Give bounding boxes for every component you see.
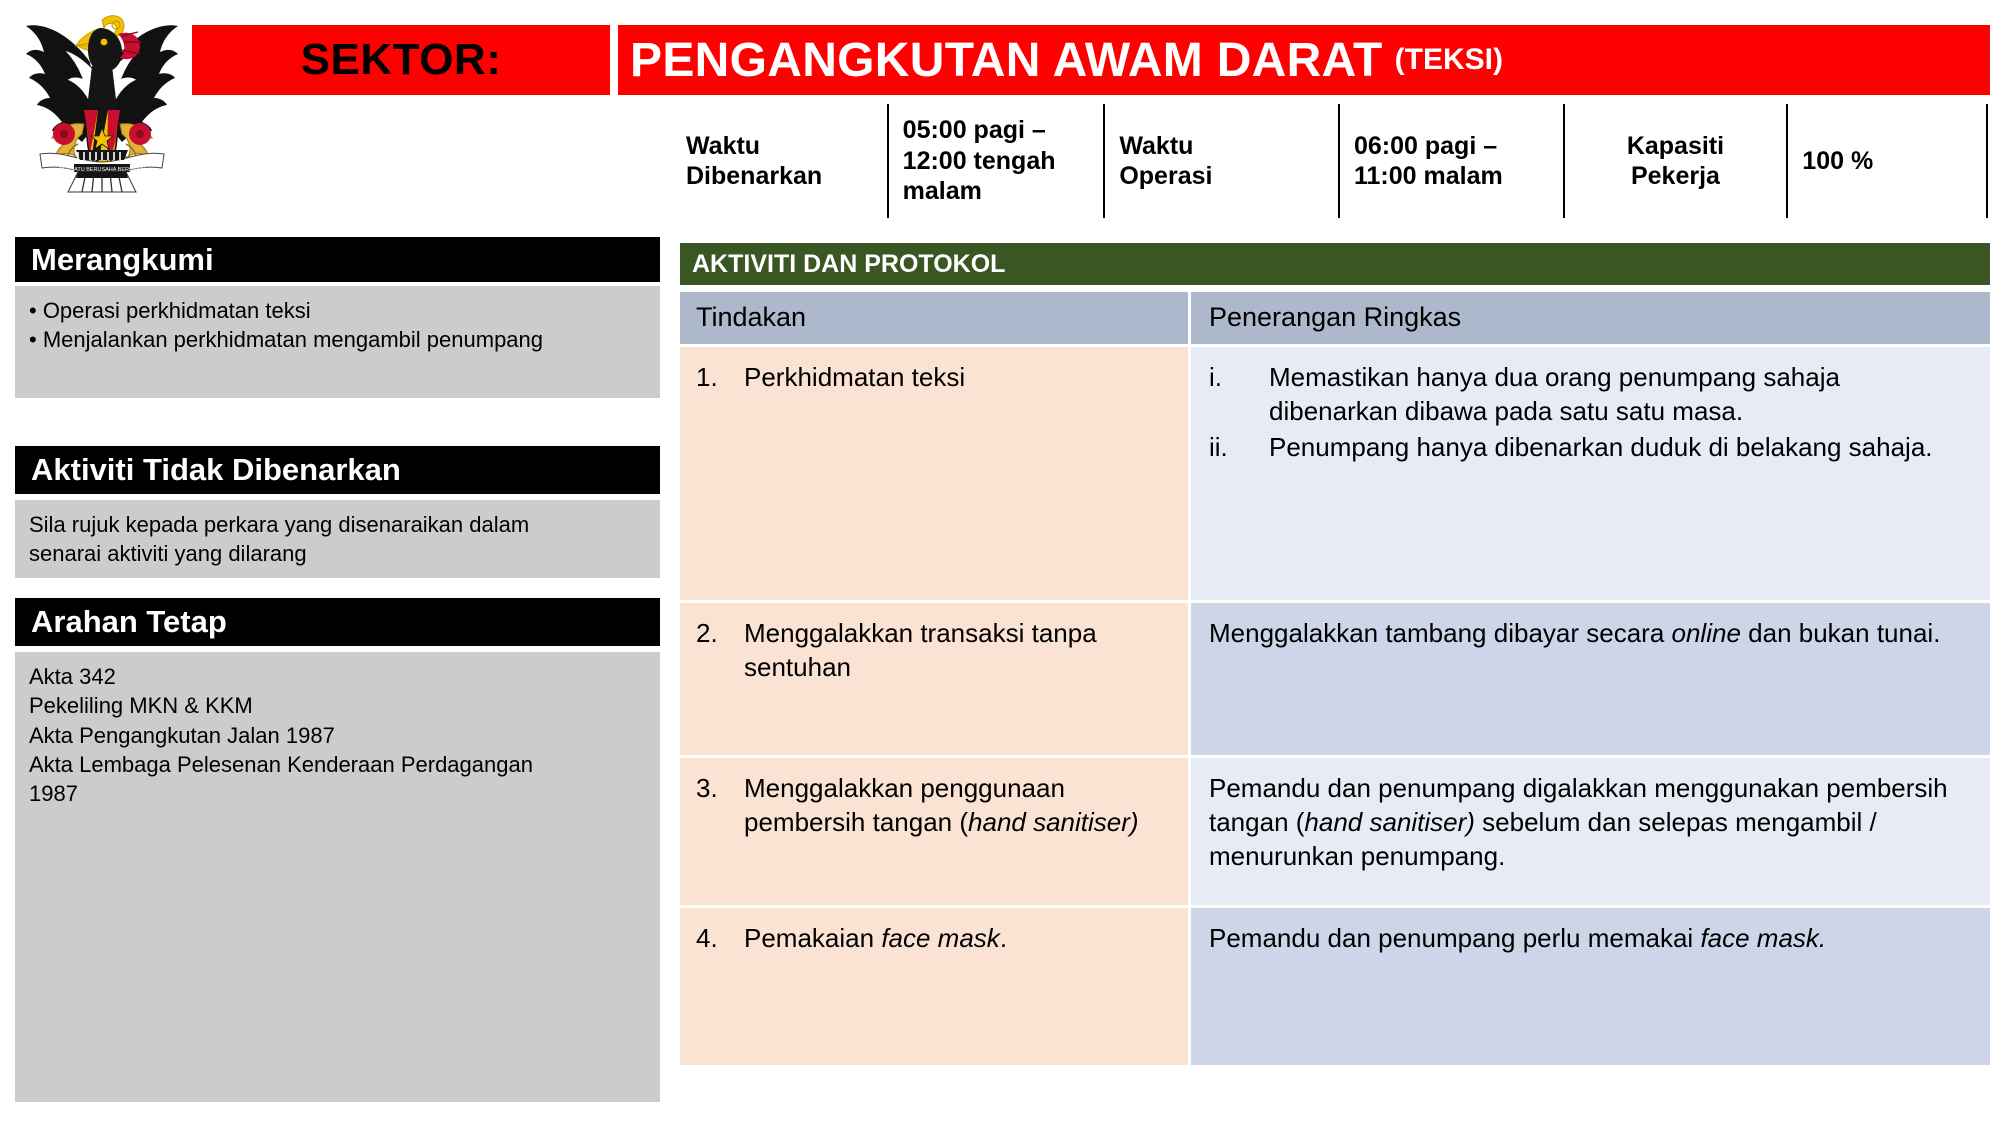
info-cell-kapasiti-pekerja-value: 100 % bbox=[1786, 104, 1986, 218]
table-row: 4. Pemakaian face mask. Pemandu dan penu… bbox=[680, 908, 1990, 1065]
coat-of-arms-svg: BERSATU BERUSAHA BERBAKTI bbox=[12, 4, 192, 194]
row-1-action-text: Perkhidmatan teksi bbox=[744, 361, 1172, 395]
row-1-action-cell: 1. Perkhidmatan teksi bbox=[680, 347, 1188, 600]
row-2-desc-pre: Menggalakkan tambang dibayar secara bbox=[1209, 618, 1672, 648]
info-cell-waktu-operasi-value: 06:00 pagi – 11:00 malam bbox=[1338, 104, 1563, 218]
row-3-description-cell: Pemandu dan penumpang digalakkan menggun… bbox=[1191, 758, 1990, 905]
arahan-tetap-line-5: 1987 bbox=[29, 779, 646, 808]
row-1-detail-2-marker: ii. bbox=[1209, 431, 1269, 465]
sector-title: PENGANGKUTAN AWAM DARAT bbox=[630, 33, 1383, 88]
merangkumi-heading-text: Merangkumi bbox=[31, 242, 214, 278]
row-4-action-pre: Pemakaian bbox=[744, 923, 881, 953]
row-4-desc-pre: Pemandu dan penumpang perlu memakai bbox=[1209, 923, 1700, 953]
table-row: 2. Menggalakkan transaksi tanpa sentuhan… bbox=[680, 603, 1990, 755]
waktu-operasi-line1: Waktu bbox=[1119, 131, 1212, 162]
aktiviti-tidak-dibenarkan-line-2: senarai aktiviti yang dilarang bbox=[29, 539, 646, 568]
row-4-action-text: Pemakaian face mask. bbox=[744, 922, 1172, 956]
row-4-action-post: . bbox=[1000, 923, 1007, 953]
row-1-description-cell: i. Memastikan hanya dua orang penumpang … bbox=[1191, 347, 1990, 600]
info-cell-waktu-dibenarkan-label: Waktu Dibenarkan bbox=[672, 104, 887, 218]
waktu-dibenarkan-value-line1: 05:00 pagi – bbox=[903, 115, 1056, 146]
row-1-detail-1-text: Memastikan hanya dua orang penumpang sah… bbox=[1269, 361, 1972, 429]
table-header-row: Tindakan Penerangan Ringkas bbox=[680, 292, 1990, 344]
kapasiti-pekerja-value: 100 % bbox=[1802, 146, 1873, 177]
waktu-dibenarkan-value-line2: 12:00 tengah bbox=[903, 146, 1056, 177]
arahan-tetap-heading-text: Arahan Tetap bbox=[31, 604, 227, 640]
kapasiti-pekerja-line2: Pekerja bbox=[1627, 161, 1724, 192]
kapasiti-pekerja-line1: Kapasiti bbox=[1627, 131, 1724, 162]
arahan-tetap-line-3: Akta Pengangkutan Jalan 1987 bbox=[29, 721, 646, 750]
section-body-merangkumi: • Operasi perkhidmatan teksi • Menjalank… bbox=[15, 286, 660, 398]
row-3-desc-emphasis: hand sanitiser) bbox=[1304, 807, 1475, 837]
header-tindakan-text: Tindakan bbox=[696, 302, 806, 332]
section-body-arahan-tetap: Akta 342 Pekeliling MKN & KKM Akta Penga… bbox=[15, 652, 660, 1102]
waktu-dibenarkan-line2: Dibenarkan bbox=[686, 161, 822, 192]
sektor-label-banner: SEKTOR: bbox=[192, 25, 610, 95]
row-2-number: 2. bbox=[696, 617, 744, 685]
table-row: 3. Menggalakkan penggunaan pembersih tan… bbox=[680, 758, 1990, 905]
info-cell-waktu-operasi-label: Waktu Operasi bbox=[1103, 104, 1338, 218]
row-2-desc-post: dan bukan tunai. bbox=[1741, 618, 1941, 648]
row-4-number: 4. bbox=[696, 922, 744, 956]
waktu-dibenarkan-value-line3: malam bbox=[903, 176, 1056, 207]
table-row: 1. Perkhidmatan teksi i. Memastikan hany… bbox=[680, 347, 1990, 600]
info-cell-kapasiti-pekerja-label: Kapasiti Pekerja bbox=[1563, 104, 1787, 218]
section-heading-merangkumi: Merangkumi bbox=[15, 237, 660, 282]
arahan-tetap-line-1: Akta 342 bbox=[29, 662, 646, 691]
aktiviti-tidak-dibenarkan-heading-text: Aktiviti Tidak Dibenarkan bbox=[31, 452, 401, 488]
row-2-action-cell: 2. Menggalakkan transaksi tanpa sentuhan bbox=[680, 603, 1188, 755]
row-1-number: 1. bbox=[696, 361, 744, 395]
operating-info-bar: Waktu Dibenarkan 05:00 pagi – 12:00 teng… bbox=[672, 104, 1988, 218]
row-1-detail-1-marker: i. bbox=[1209, 361, 1269, 429]
row-2-description-cell: Menggalakkan tambang dibayar secara onli… bbox=[1191, 603, 1990, 755]
section-body-aktiviti-tidak-dibenarkan: Sila rujuk kepada perkara yang disenarai… bbox=[15, 500, 660, 578]
info-cell-waktu-dibenarkan-value: 05:00 pagi – 12:00 tengah malam bbox=[887, 104, 1104, 218]
row-3-action-cell: 3. Menggalakkan penggunaan pembersih tan… bbox=[680, 758, 1188, 905]
row-3-action-text: Menggalakkan penggunaan pembersih tangan… bbox=[744, 772, 1172, 840]
waktu-operasi-value-line1: 06:00 pagi – bbox=[1354, 131, 1503, 162]
waktu-operasi-value-line2: 11:00 malam bbox=[1354, 161, 1503, 192]
protocol-table: Tindakan Penerangan Ringkas 1. Perkhidma… bbox=[680, 292, 1990, 1065]
row-1-detail-2-text: Penumpang hanya dibenarkan duduk di bela… bbox=[1269, 431, 1972, 465]
section-heading-arahan-tetap: Arahan Tetap bbox=[15, 598, 660, 646]
arahan-tetap-line-4: Akta Lembaga Pelesenan Kenderaan Perdaga… bbox=[29, 750, 646, 779]
panel-title-text: AKTIVITI DAN PROTOKOL bbox=[692, 250, 1005, 279]
header-penerangan-text: Penerangan Ringkas bbox=[1209, 302, 1461, 332]
merangkumi-line-1: • Operasi perkhidmatan teksi bbox=[29, 296, 646, 325]
merangkumi-line-2: • Menjalankan perkhidmatan mengambil pen… bbox=[29, 325, 646, 354]
table-header-tindakan: Tindakan bbox=[680, 292, 1188, 344]
aktiviti-tidak-dibenarkan-line-1: Sila rujuk kepada perkara yang disenarai… bbox=[29, 510, 646, 539]
row-2-action-text: Menggalakkan transaksi tanpa sentuhan bbox=[744, 617, 1172, 685]
arahan-tetap-line-2: Pekeliling MKN & KKM bbox=[29, 691, 646, 720]
sektor-label: SEKTOR: bbox=[301, 35, 502, 85]
row-2-desc-emphasis: online bbox=[1672, 618, 1741, 648]
section-heading-aktiviti-tidak-dibenarkan: Aktiviti Tidak Dibenarkan bbox=[15, 446, 660, 494]
row-3-action-emphasis: hand sanitiser) bbox=[968, 807, 1139, 837]
sarawak-coat-of-arms: BERSATU BERUSAHA BERBAKTI bbox=[12, 4, 192, 194]
waktu-operasi-line2: Operasi bbox=[1119, 161, 1212, 192]
table-header-penerangan: Penerangan Ringkas bbox=[1191, 292, 1990, 344]
waktu-dibenarkan-line1: Waktu bbox=[686, 131, 822, 162]
row-3-number: 3. bbox=[696, 772, 744, 840]
sector-title-banner: PENGANGKUTAN AWAM DARAT (TEKSI) bbox=[618, 25, 1990, 95]
row-4-action-cell: 4. Pemakaian face mask. bbox=[680, 908, 1188, 1065]
row-4-description-cell: Pemandu dan penumpang perlu memakai face… bbox=[1191, 908, 1990, 1065]
panel-title-aktiviti-dan-protokol: AKTIVITI DAN PROTOKOL bbox=[680, 243, 1990, 285]
sector-subtitle: (TEKSI) bbox=[1395, 43, 1503, 77]
row-4-action-emphasis: face mask bbox=[881, 923, 1000, 953]
row-4-desc-emphasis: face mask. bbox=[1700, 923, 1826, 953]
